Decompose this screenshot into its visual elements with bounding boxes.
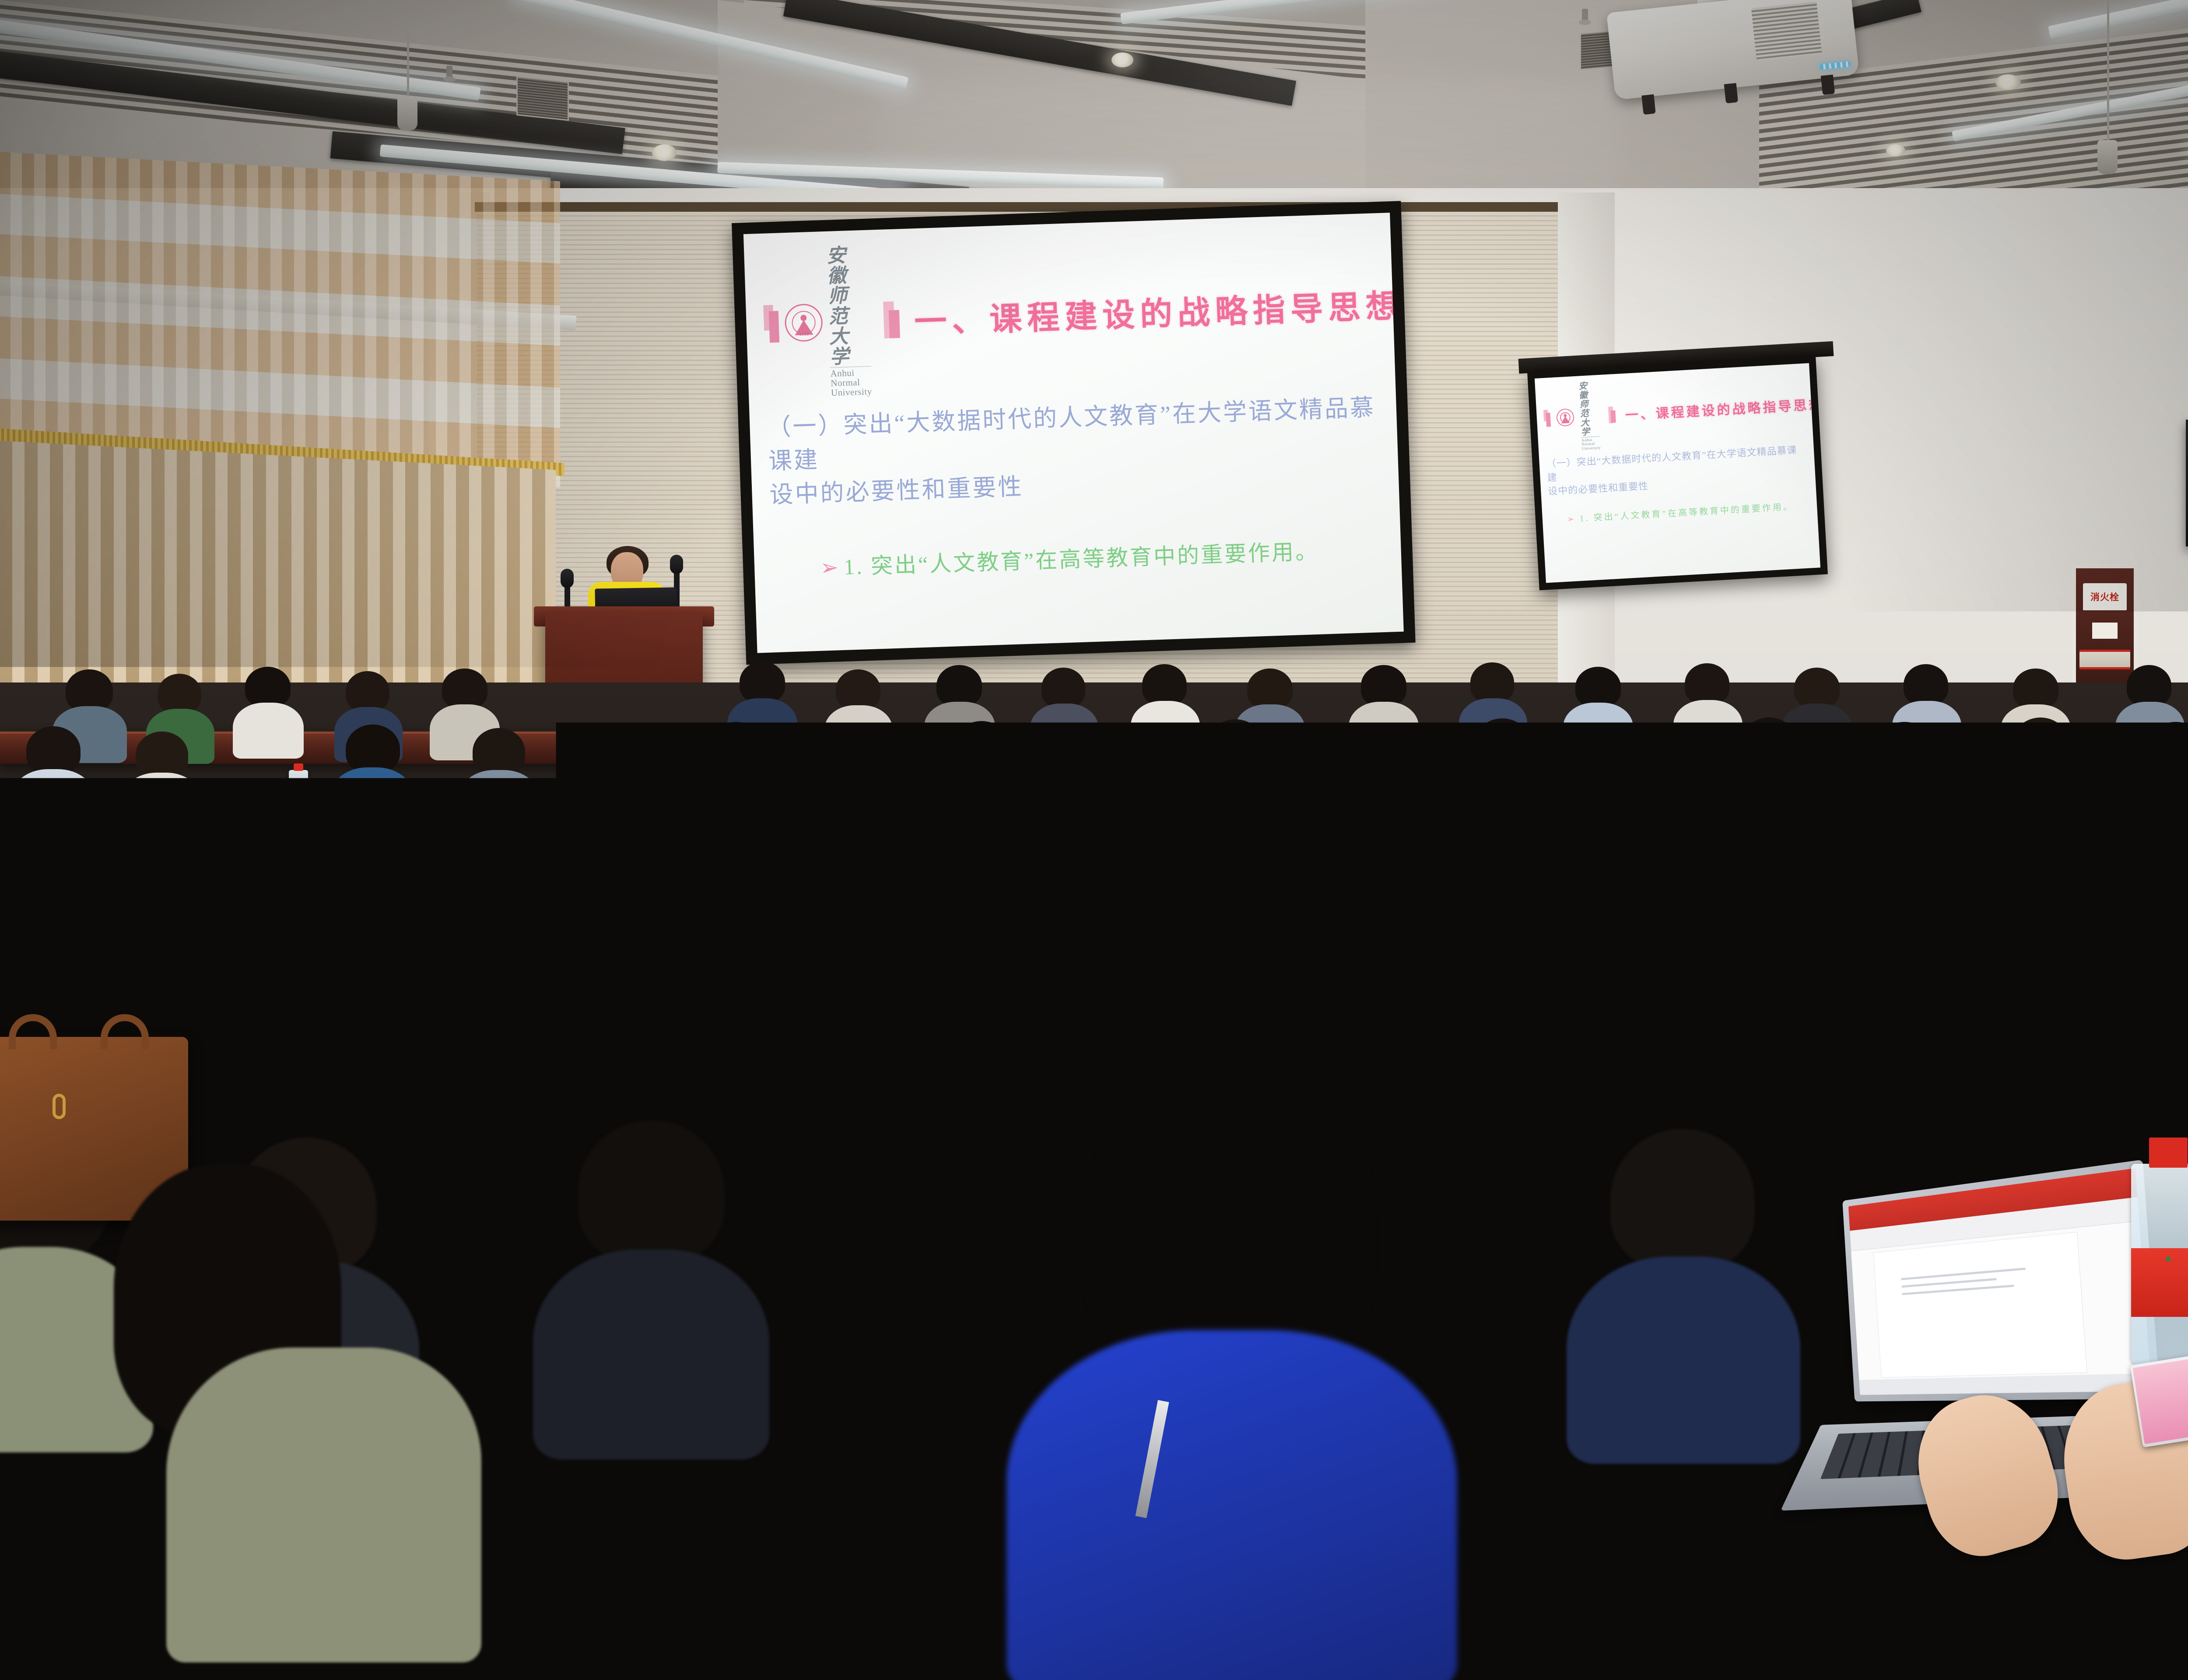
water-bottle[interactable] — [547, 967, 575, 1042]
side-accent-bar-2 — [1546, 413, 1551, 427]
fire-hydrant-cabinet[interactable]: 消火栓 — [2072, 564, 2138, 696]
backpack-brand-label: aiko — [264, 815, 329, 865]
front-wall-top-trim — [475, 202, 1582, 212]
side-slide-title: 一、课程建设的战略指导思想 — [1624, 393, 1820, 423]
slide-bullet-1-text: 1. 突出“人文教育”在高等教育中的重要作用。 — [843, 539, 1319, 579]
bottle-label — [2131, 1248, 2188, 1316]
bottle-label — [508, 1135, 544, 1169]
sprinkler-head-1 — [1582, 9, 1588, 22]
side-screen-surface: 1928 安徽师范大学 Anhui Normal University 一、课程… — [1535, 363, 1820, 583]
projector-foot-1 — [1641, 94, 1655, 115]
bullet-arrow-icon: ➢ — [820, 555, 841, 580]
laptop-display — [1848, 1168, 2152, 1395]
ceiling-downlight-5 — [1995, 74, 2021, 90]
bottle-label — [547, 998, 575, 1024]
ceiling-vent-1 — [516, 76, 569, 121]
ceiling-downlight-4 — [1112, 52, 1133, 67]
microphone-head-left — [561, 569, 574, 588]
water-bottle[interactable] — [136, 861, 158, 922]
bottle-label — [648, 885, 671, 906]
main-projection-screen[interactable]: 1928 安徽师范大学 Anhui Normal University 一、课程… — [732, 201, 1416, 665]
microphone-head-right — [670, 555, 683, 574]
projector-status-leds — [1820, 61, 1851, 70]
university-crest-icon: 1928 — [784, 303, 823, 342]
tote-bag-blue-foreground[interactable] — [490, 1501, 735, 1680]
water-bottle[interactable] — [508, 1094, 544, 1192]
crest-year-label: 1928 — [786, 331, 821, 337]
spotlight-can-2 — [2097, 140, 2118, 174]
university-name-cn: 安徽师范大学 — [826, 245, 871, 367]
side-university-name-block: 安徽师范大学 Anhui Normal University — [1578, 381, 1601, 451]
side-university-crest-icon: 1928 — [1556, 408, 1574, 427]
water-bottle[interactable] — [648, 858, 671, 921]
side-slide-subtitle: （一）突出“大数据时代的人文教育”在大学语文精品慕课建 设中的必要性和重要性 — [1546, 443, 1809, 498]
document-page — [1874, 1232, 2087, 1377]
spotlight-can-1 — [397, 96, 417, 130]
university-name-en: Anhui Normal University — [830, 366, 872, 398]
secondary-projection-screen[interactable]: 1928 安徽师范大学 Anhui Normal University 一、课程… — [1527, 356, 1828, 590]
main-screen-surface: 1928 安徽师范大学 Anhui Normal University 一、课程… — [743, 213, 1404, 653]
projector-vent-grill — [1751, 2, 1822, 61]
lecture-hall-photo: 消火栓 1928 安徽师范大学 — [0, 0, 2188, 1680]
ceiling-downlight-1 — [652, 144, 677, 161]
projector-foot-2 — [1724, 83, 1738, 104]
ceiling-projector-icon — [1606, 0, 1859, 100]
slide-title: 一、课程建设的战略指导思想 — [913, 280, 1403, 343]
slide-subtitle: （一）突出“大数据时代的人文教育”在大学语文精品慕课建 设中的必要性和重要性 — [767, 391, 1382, 511]
side-slide-bullet-1: ➢1. 突出“人文教育”在高等教育中的重要作用。 — [1567, 498, 1810, 525]
smartphone-white[interactable] — [849, 1553, 975, 1680]
side-university-name-en: Anhui Normal University — [1581, 436, 1601, 451]
slide-accent-bar-2 — [769, 311, 779, 343]
phone-screen-off — [852, 1556, 973, 1680]
bottle-label — [1282, 789, 1302, 808]
water-bottle[interactable] — [635, 768, 655, 822]
bottle-label — [635, 791, 655, 808]
slide-header: 1928 安徽师范大学 Anhui Normal University 一、课程… — [761, 228, 1378, 399]
fire-hydrant-instruction-strip — [2079, 650, 2130, 669]
side-slide-header: 1928 安徽师范大学 Anhui Normal University 一、课程… — [1542, 370, 1806, 453]
water-bottle-foreground[interactable] — [2131, 1164, 2188, 1365]
side-bullet-1-text: 1. 突出“人文教育”在高等教育中的重要作用。 — [1579, 502, 1794, 524]
slide-content-main: 1928 安徽师范大学 Anhui Normal University 一、课程… — [743, 213, 1404, 653]
bottle-label — [136, 887, 158, 908]
handbag-clasp — [53, 1094, 66, 1119]
slide-accent-bar-4 — [888, 310, 900, 339]
spotlight-rod-2 — [2107, 0, 2109, 144]
foreground-laptop-screen[interactable] — [1842, 1160, 2160, 1402]
projector-foot-3 — [1821, 74, 1835, 95]
spotlight-rod-1 — [407, 31, 409, 101]
side-crest-year-label: 1928 — [1557, 421, 1573, 424]
ceiling-downlight-8 — [1886, 144, 1905, 157]
wall-speaker-icon — [2186, 420, 2188, 552]
university-name-block: 安徽师范大学 Anhui Normal University — [826, 245, 872, 398]
fire-hydrant-notice — [2092, 623, 2118, 639]
slide-content-side: 1928 安徽师范大学 Anhui Normal University 一、课程… — [1535, 363, 1820, 583]
side-bullet-arrow-icon: ➢ — [1567, 514, 1576, 524]
side-university-name-cn: 安徽师范大学 — [1578, 381, 1600, 437]
sprinkler-head-2 — [446, 66, 452, 79]
side-accent-bar-4 — [1610, 410, 1616, 423]
slide-bullet-1: ➢1. 突出“人文教育”在高等教育中的重要作用。 — [820, 532, 1384, 582]
fire-hydrant-sign-label: 消火栓 — [2083, 583, 2127, 610]
